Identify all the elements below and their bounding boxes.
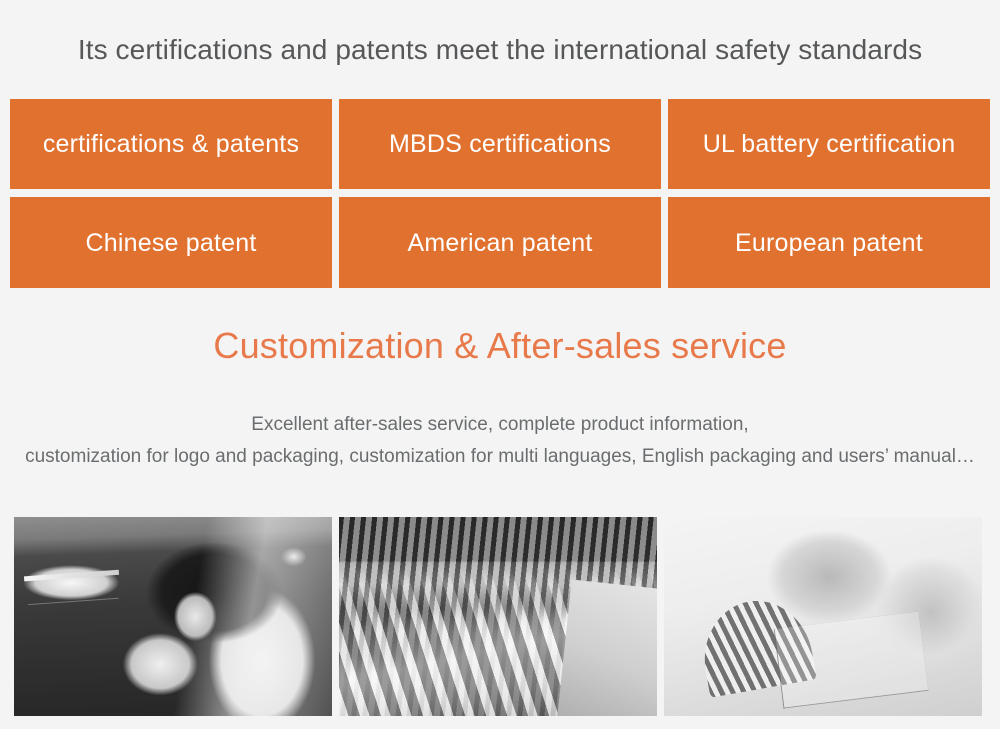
photo-assembly-line [339,517,657,716]
cert-badge-label: European patent [735,226,923,260]
cert-badge-chinese-patent[interactable]: Chinese patent [10,197,332,288]
cert-badge-certifications-patents[interactable]: certifications & patents [10,99,332,189]
photo-overlay [339,517,657,716]
certification-grid: certifications & patents MBDS certificat… [10,99,990,288]
photo-design-drafting [664,517,982,716]
page-root: Its certifications and patents meet the … [0,0,1000,729]
photo-gallery [14,517,986,716]
service-description-line-1: Excellent after-sales service, complete … [0,409,1000,441]
cert-badge-american-patent[interactable]: American patent [339,197,661,288]
section-title-customization-after-sales: Customization & After-sales service [0,322,1000,370]
page-title: Its certifications and patents meet the … [0,30,1000,70]
cert-badge-label: MBDS certifications [389,127,611,161]
cert-badge-label: UL battery certification [703,127,956,161]
cert-badge-label: American patent [407,226,592,260]
photo-microscope-inspection [14,517,332,716]
service-description: Excellent after-sales service, complete … [0,409,1000,473]
photo-overlay [14,517,332,716]
cert-badge-label: Chinese patent [86,226,257,260]
cert-badge-european-patent[interactable]: European patent [668,197,990,288]
cert-badge-label: certifications & patents [43,127,299,161]
cert-badge-mbds-certifications[interactable]: MBDS certifications [339,99,661,189]
cert-badge-ul-battery-certification[interactable]: UL battery certification [668,99,990,189]
service-description-line-2: customization for logo and packaging, cu… [0,441,1000,473]
photo-overlay [664,517,982,716]
